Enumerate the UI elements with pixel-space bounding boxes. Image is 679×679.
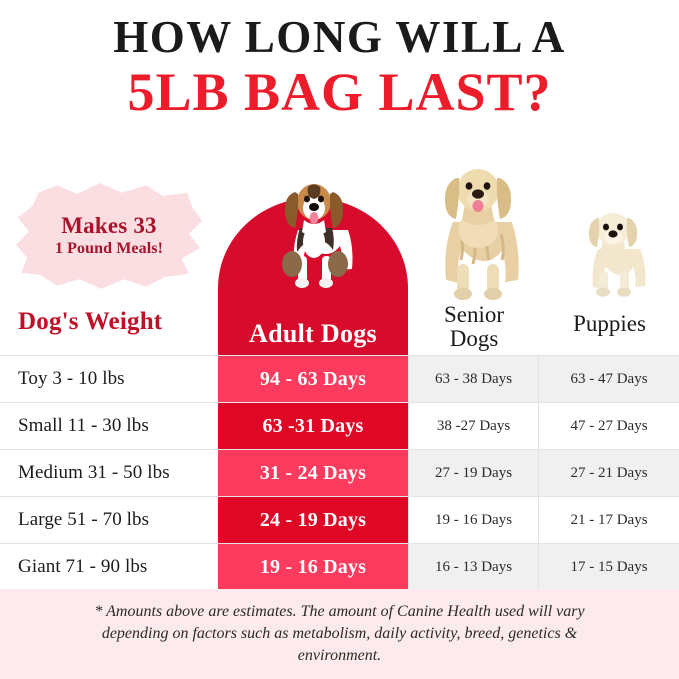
cell-adult: 63 -31 Days xyxy=(218,403,408,449)
cell-weight: Small 11 - 30 lbs xyxy=(0,403,218,449)
cell-weight: Medium 31 - 50 lbs xyxy=(0,450,218,496)
title-line-1: HOW LONG WILL A xyxy=(7,14,672,61)
disclaimer-text: * Amounts above are estimates. The amoun… xyxy=(60,601,620,667)
senior-header-line-2: Dogs xyxy=(410,327,538,351)
golden-retriever-dog-icon xyxy=(423,160,533,302)
table-row: Giant 71 - 90 lbs 19 - 16 Days 16 - 13 D… xyxy=(0,544,679,591)
cell-weight: Large 51 - 70 lbs xyxy=(0,497,218,543)
cell-senior: 63 - 38 Days xyxy=(408,356,538,402)
badge-headline: Makes 33 xyxy=(61,214,157,238)
makes-meals-badge: Makes 33 1 Pound Meals! xyxy=(16,182,202,290)
table-row: Large 51 - 70 lbs 24 - 19 Days 19 - 16 D… xyxy=(0,497,679,544)
cell-senior: 27 - 19 Days xyxy=(408,450,538,496)
table-row: Small 11 - 30 lbs 63 -31 Days 38 -27 Day… xyxy=(0,403,679,450)
feeding-duration-table: Toy 3 - 10 lbs 94 - 63 Days 63 - 38 Days… xyxy=(0,355,679,591)
cell-weight: Toy 3 - 10 lbs xyxy=(0,356,218,402)
beagle-dog-icon xyxy=(268,168,360,290)
disclaimer-band: * Amounts above are estimates. The amoun… xyxy=(0,589,679,679)
column-header-dogs-weight: Dog's Weight xyxy=(18,308,162,336)
badge-text-group: Makes 33 1 Pound Meals! xyxy=(16,182,202,290)
cell-adult: 19 - 16 Days xyxy=(218,544,408,590)
cell-adult: 31 - 24 Days xyxy=(218,450,408,496)
column-header-senior-dogs: Senior Dogs xyxy=(410,303,538,351)
cell-adult: 24 - 19 Days xyxy=(218,497,408,543)
puppy-dog-icon xyxy=(578,205,648,297)
badge-subline: 1 Pound Meals! xyxy=(55,240,163,258)
cell-senior: 38 -27 Days xyxy=(408,403,538,449)
cell-adult: 94 - 63 Days xyxy=(218,356,408,402)
title-line-2: 5LB BAG LAST? xyxy=(0,65,679,120)
infographic-page: HOW LONG WILL A 5LB BAG LAST? Makes 33 1… xyxy=(0,0,679,679)
cell-senior: 19 - 16 Days xyxy=(408,497,538,543)
cell-weight: Giant 71 - 90 lbs xyxy=(0,544,218,590)
cell-puppies: 17 - 15 Days xyxy=(538,544,679,590)
page-title: HOW LONG WILL A 5LB BAG LAST? xyxy=(0,14,679,120)
table-row: Toy 3 - 10 lbs 94 - 63 Days 63 - 38 Days… xyxy=(0,355,679,403)
table-row: Medium 31 - 50 lbs 31 - 24 Days 27 - 19 … xyxy=(0,450,679,497)
cell-puppies: 63 - 47 Days xyxy=(538,356,679,402)
senior-header-line-1: Senior xyxy=(410,303,538,327)
cell-senior: 16 - 13 Days xyxy=(408,544,538,590)
cell-puppies: 21 - 17 Days xyxy=(538,497,679,543)
cell-puppies: 27 - 21 Days xyxy=(538,450,679,496)
column-header-adult-dogs: Adult Dogs xyxy=(218,319,408,349)
column-header-puppies: Puppies xyxy=(540,312,679,336)
cell-puppies: 47 - 27 Days xyxy=(538,403,679,449)
